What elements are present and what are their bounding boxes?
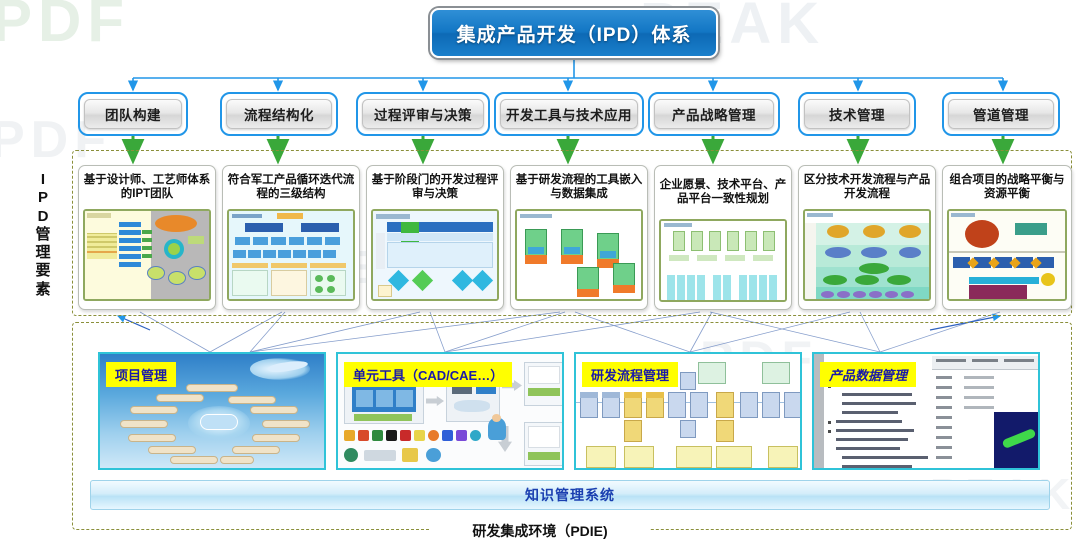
side-label-char: D [38, 208, 49, 226]
element-card-platform-planning[interactable]: 企业愿景、技术平台、产品平台一致性规划 [654, 165, 792, 310]
element-card-heading: 区分技术开发流程与产品开发流程 [799, 166, 935, 208]
pdie-label: 研发集成环境（PDIE) [430, 520, 650, 542]
category-pipeline-mgmt[interactable]: 管道管理 [948, 99, 1054, 129]
element-card-heading: 符合军工产品循环迭代流程的三级结构 [223, 166, 359, 208]
knowledge-management-bar[interactable]: 知识管理系统 [90, 480, 1050, 510]
panel-label-unit-tools: 单元工具（CAD/CAE…） [344, 362, 512, 387]
portfolio-balance-chart-thumbnail [947, 209, 1067, 301]
side-label-char: I [41, 171, 45, 189]
platform-planning-chart-thumbnail [659, 219, 787, 302]
bottom-panel-unit-tools[interactable]: 单元工具（CAD/CAE…） [336, 352, 564, 470]
side-label-char: P [38, 189, 48, 207]
element-card-heading: 组合项目的战略平衡与资源平衡 [943, 166, 1071, 208]
bottom-panel-project-management[interactable]: 项目管理 [98, 352, 326, 470]
element-card-stage-gate[interactable]: 基于阶段门的开发过程评审与决策 [366, 165, 504, 310]
ipt-team-org-chart-thumbnail [83, 209, 211, 301]
side-label-char: 管 [35, 226, 50, 244]
tech-vs-product-process-thumbnail [803, 209, 931, 301]
bottom-panel-product-data[interactable]: 产品数据管理 [812, 352, 1040, 470]
bottom-panel-rd-process[interactable]: 研发流程管理 [574, 352, 802, 470]
element-card-tool-integration[interactable]: 基于研发流程的工具嵌入与数据集成 [510, 165, 648, 310]
category-process-structure[interactable]: 流程结构化 [226, 99, 332, 129]
category-review-decision[interactable]: 过程评审与决策 [362, 99, 484, 129]
element-card-heading: 基于研发流程的工具嵌入与数据集成 [511, 166, 647, 208]
tool-integration-flow-thumbnail [515, 209, 643, 301]
panel-label-rd-process: 研发流程管理 [582, 362, 678, 387]
category-team-building[interactable]: 团队构建 [84, 99, 182, 129]
page-title: 集成产品开发（IPD）体系 [430, 8, 718, 58]
side-label-char: 要 [35, 262, 50, 280]
stage-gate-review-table-thumbnail [371, 209, 499, 301]
category-product-strategy[interactable]: 产品战略管理 [654, 99, 774, 129]
element-card-three-level[interactable]: 符合军工产品循环迭代流程的三级结构 [222, 165, 360, 310]
element-card-heading: 基于设计师、工艺师体系的IPT团队 [79, 166, 215, 208]
ipd-side-label: I P D 管 理 要 素 [26, 160, 60, 310]
side-label-char: 理 [35, 244, 50, 262]
element-card-ipt-team[interactable]: 基于设计师、工艺师体系的IPT团队 [78, 165, 216, 310]
category-dev-tools[interactable]: 开发工具与技术应用 [500, 99, 638, 129]
element-card-tech-vs-product[interactable]: 区分技术开发流程与产品开发流程 [798, 165, 936, 310]
watermark: PDF [0, 0, 130, 55]
side-label-char: 素 [35, 281, 50, 299]
element-card-portfolio-balance[interactable]: 组合项目的战略平衡与资源平衡 [942, 165, 1072, 310]
panel-label-project-management: 项目管理 [106, 362, 176, 387]
element-card-heading: 企业愿景、技术平台、产品平台一致性规划 [655, 166, 791, 218]
element-card-heading: 基于阶段门的开发过程评审与决策 [367, 166, 503, 208]
three-level-process-tree-thumbnail [227, 209, 355, 301]
panel-label-product-data: 产品数据管理 [820, 362, 916, 387]
category-tech-management[interactable]: 技术管理 [804, 99, 910, 129]
